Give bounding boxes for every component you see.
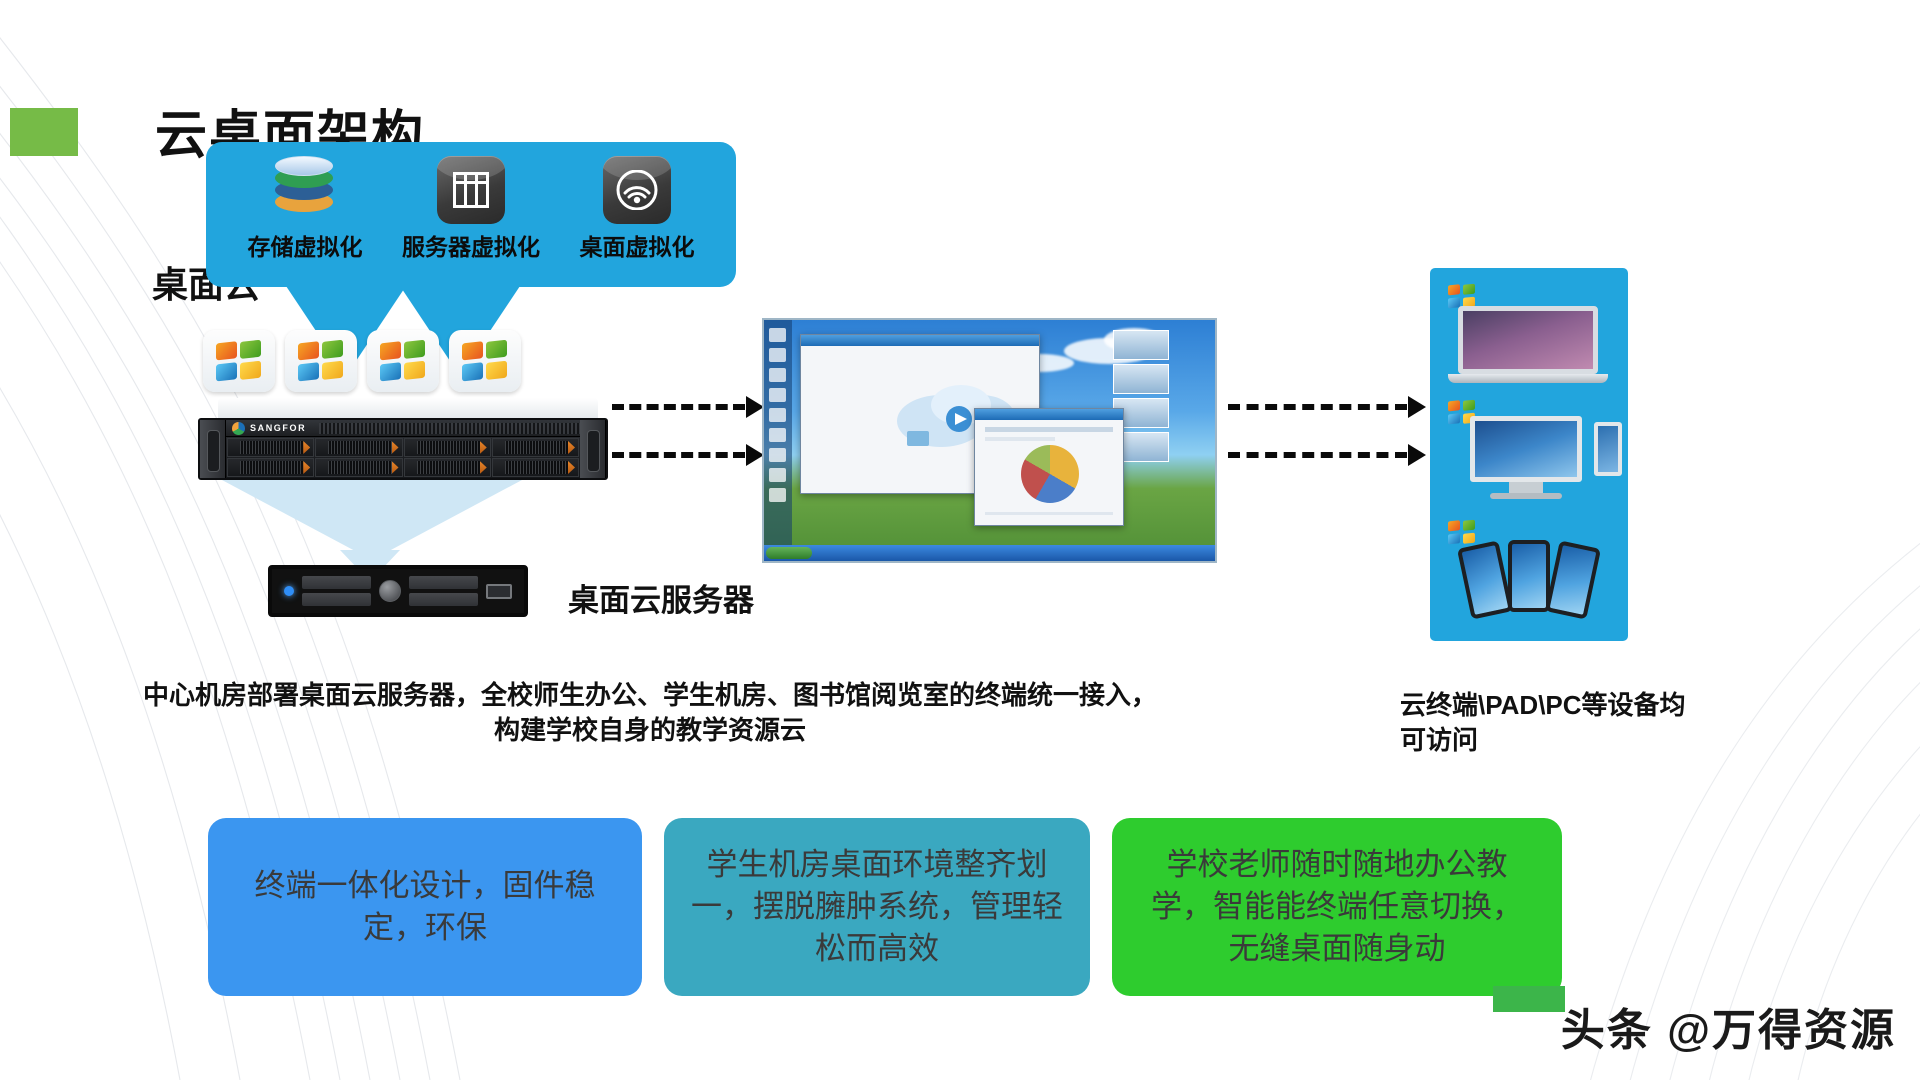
funnel-shape [222,480,522,560]
title-accent-square [10,108,78,156]
virtualization-item-desktop[interactable]: 桌面虚拟化 [555,156,720,262]
drive-bay [227,458,314,477]
rack-server-header: SANGFOR [226,420,580,437]
windows-logo-icon [216,339,262,384]
virtualization-label-desktop: 桌面虚拟化 [555,228,720,262]
desktop-cloud-appliance [268,565,528,617]
virtualization-item-server[interactable]: 服务器虚拟化 [389,156,554,262]
appliance-label: 桌面云服务器 [568,575,754,620]
virtualization-callout: 存储虚拟化 服务器虚拟化 桌面虚拟化 [206,142,736,287]
virtualization-label-storage: 存储虚拟化 [223,228,388,262]
drive-bay [227,438,314,457]
vsphere-desktop-screenshot [762,318,1217,563]
benefit-box-terminal-text: 终端一体化设计，固件稳定，环保 [234,865,616,949]
appliance-knob-icon [379,580,401,602]
drive-bay [315,458,402,477]
arrow-server-to-screen-bottom [612,452,764,458]
watermark-text: 头条 @万得资源 [1561,994,1896,1058]
windows-tile [203,330,275,392]
benefit-box-terminal[interactable]: 终端一体化设计，固件稳定，环保 [208,818,642,996]
devices-caption-line2: 可访问 [1400,723,1760,758]
arrow-screen-to-devices-bottom [1228,452,1426,458]
appliance-port-icon [486,584,512,599]
benefit-boxes: 终端一体化设计，固件稳定，环保 学生机房桌面环境整齐划一，摆脱臃肿系统，管理轻松… [208,818,1562,996]
rack-ear-left [200,420,226,478]
windows-tile [285,330,357,392]
windows-logo-icon [462,339,508,384]
benefit-box-lab-text: 学生机房桌面环境整齐划一，摆脱臃肿系统，管理轻松而高效 [690,844,1064,970]
appliance-slot-left [302,576,371,606]
main-caption-line1: 中心机房部署桌面云服务器，全校师生办公、学生机房、图书馆阅览室的终端统一接入， [120,678,1180,713]
benefit-box-teacher[interactable]: 学校老师随时随地办公教学，智能能终端任意切换，无缝桌面随身动 [1112,818,1562,996]
drive-bay [404,438,491,457]
client-devices-panel [1430,268,1628,641]
appliance-slot-right [409,576,478,606]
vm-taskbar [764,545,1215,561]
windows-logo-icon [380,339,426,384]
main-caption-line2: 构建学校自身的教学资源云 [120,713,1180,748]
rack-drive-bays [226,437,580,478]
rack-vent-strip [319,423,580,434]
laptop-device [1430,280,1628,390]
benefit-box-teacher-text: 学校老师随时随地办公教学，智能能终端任意切换，无缝桌面随身动 [1138,844,1536,970]
power-led-icon [284,586,294,596]
drive-bay [492,458,579,477]
phone-device [1545,540,1601,619]
vm-start-button [766,547,812,559]
windows-logo-icon [298,339,344,384]
virtualization-item-storage[interactable]: 存储虚拟化 [223,156,388,262]
storage-disks-icon [271,156,339,224]
rack-server: SANGFOR [198,418,608,480]
rack-ear-right [580,420,606,478]
arrow-screen-to-devices-top [1228,404,1426,410]
phone-tablet-devices [1430,516,1628,626]
arrow-server-to-screen-top [612,404,764,410]
sangfor-brand-label: SANGFOR [250,423,306,433]
drive-bay [315,438,402,457]
desktop-monitor-device [1430,396,1628,506]
wifi-signal-icon [603,156,671,224]
slide-canvas: 云桌面架构 桌面云 存储虚拟化 服务器虚拟化 [0,0,1920,1080]
benefit-box-lab[interactable]: 学生机房桌面环境整齐划一，摆脱臃肿系统，管理轻松而高效 [664,818,1090,996]
vm-window-chart [974,408,1124,526]
phone-device [1508,540,1550,612]
server-grid-icon [437,156,505,224]
drive-bay [404,458,491,477]
main-caption: 中心机房部署桌面云服务器，全校师生办公、学生机房、图书馆阅览室的终端统一接入， … [120,678,1180,748]
phone-device [1457,540,1513,619]
vm-pie-chart [1021,445,1079,503]
devices-caption: 云终端\PAD\PC等设备均 可访问 [1400,688,1760,758]
windows-tile [449,330,521,392]
windows-tile [367,330,439,392]
sangfor-logo-icon [232,422,245,435]
rack-server-body: SANGFOR [226,420,580,478]
virtualization-label-server: 服务器虚拟化 [389,228,554,262]
drive-bay [492,438,579,457]
devices-caption-line1: 云终端\PAD\PC等设备均 [1400,688,1760,723]
tablet-device [1594,422,1622,476]
windows-tiles-row [203,330,521,392]
watermark-green-block [1493,986,1565,1012]
